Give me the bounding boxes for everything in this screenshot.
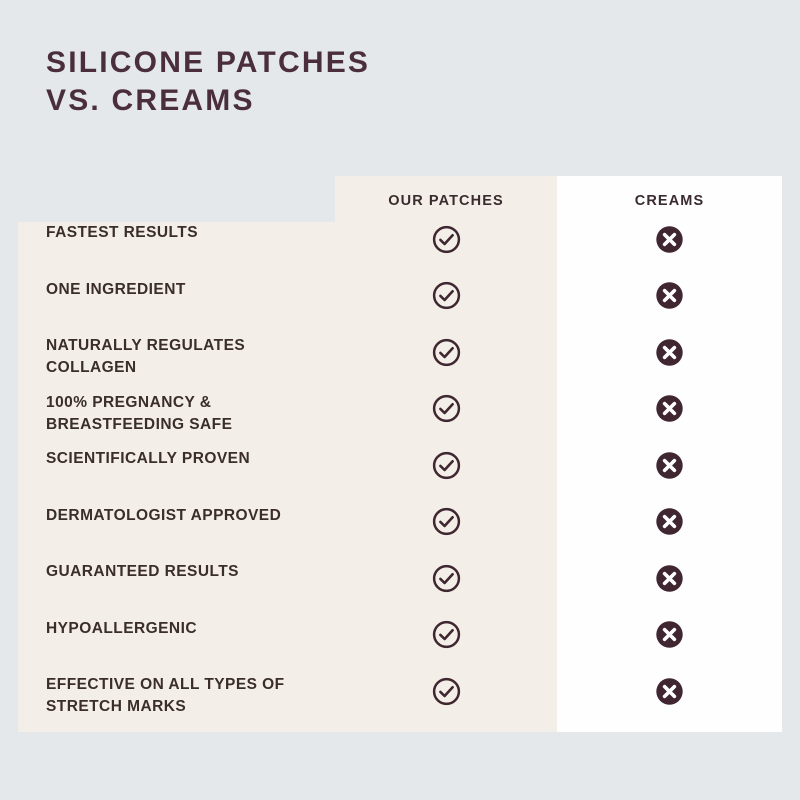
x-circle-icon: [655, 338, 684, 367]
check-circle-icon: [432, 507, 461, 536]
cell-patches: [335, 222, 557, 256]
feature-label: 100% PREGNANCY & BREASTFEEDING SAFE: [46, 392, 336, 437]
table-row: SCIENTIFICALLY PROVEN: [0, 448, 800, 505]
x-circle-icon: [655, 451, 684, 480]
check-circle-icon: [432, 620, 461, 649]
x-circle-icon: [655, 394, 684, 423]
cell-patches: [335, 618, 557, 652]
cell-patches: [335, 505, 557, 539]
table-row: ONE INGREDIENT: [0, 279, 800, 336]
table-row: FASTEST RESULTS: [0, 222, 800, 279]
feature-label: FASTEST RESULTS: [46, 222, 336, 244]
cell-creams: [557, 505, 782, 539]
cell-creams: [557, 335, 782, 369]
table-row: NATURALLY REGULATES COLLAGEN: [0, 335, 800, 392]
column-header-creams: CREAMS: [557, 190, 782, 212]
check-circle-icon: [432, 225, 461, 254]
feature-label: DERMATOLOGIST APPROVED: [46, 505, 336, 527]
cell-patches: [335, 674, 557, 708]
comparison-table: OUR PATCHES CREAMS FASTEST RESULTSONE IN…: [0, 0, 800, 800]
check-circle-icon: [432, 281, 461, 310]
x-circle-icon: [655, 281, 684, 310]
cell-creams: [557, 392, 782, 426]
table-row: GUARANTEED RESULTS: [0, 561, 800, 618]
cell-patches: [335, 335, 557, 369]
x-circle-icon: [655, 620, 684, 649]
cell-patches: [335, 392, 557, 426]
feature-label: ONE INGREDIENT: [46, 279, 336, 301]
cell-patches: [335, 448, 557, 482]
x-circle-icon: [655, 225, 684, 254]
cell-creams: [557, 222, 782, 256]
check-circle-icon: [432, 394, 461, 423]
check-circle-icon: [432, 677, 461, 706]
x-circle-icon: [655, 677, 684, 706]
feature-label: SCIENTIFICALLY PROVEN: [46, 448, 336, 470]
check-circle-icon: [432, 451, 461, 480]
feature-label: NATURALLY REGULATES COLLAGEN: [46, 335, 336, 380]
x-circle-icon: [655, 507, 684, 536]
cell-creams: [557, 674, 782, 708]
feature-label: GUARANTEED RESULTS: [46, 561, 336, 583]
check-circle-icon: [432, 564, 461, 593]
column-header-patches: OUR PATCHES: [335, 190, 557, 212]
cell-creams: [557, 279, 782, 313]
cell-patches: [335, 279, 557, 313]
table-row: 100% PREGNANCY & BREASTFEEDING SAFE: [0, 392, 800, 449]
cell-patches: [335, 561, 557, 595]
check-circle-icon: [432, 338, 461, 367]
feature-label: HYPOALLERGENIC: [46, 618, 336, 640]
table-row: DERMATOLOGIST APPROVED: [0, 505, 800, 562]
table-row: EFFECTIVE ON ALL TYPES OF STRETCH MARKS: [0, 674, 800, 731]
table-row: HYPOALLERGENIC: [0, 618, 800, 675]
cell-creams: [557, 448, 782, 482]
cell-creams: [557, 618, 782, 652]
feature-label: EFFECTIVE ON ALL TYPES OF STRETCH MARKS: [46, 674, 336, 719]
x-circle-icon: [655, 564, 684, 593]
cell-creams: [557, 561, 782, 595]
